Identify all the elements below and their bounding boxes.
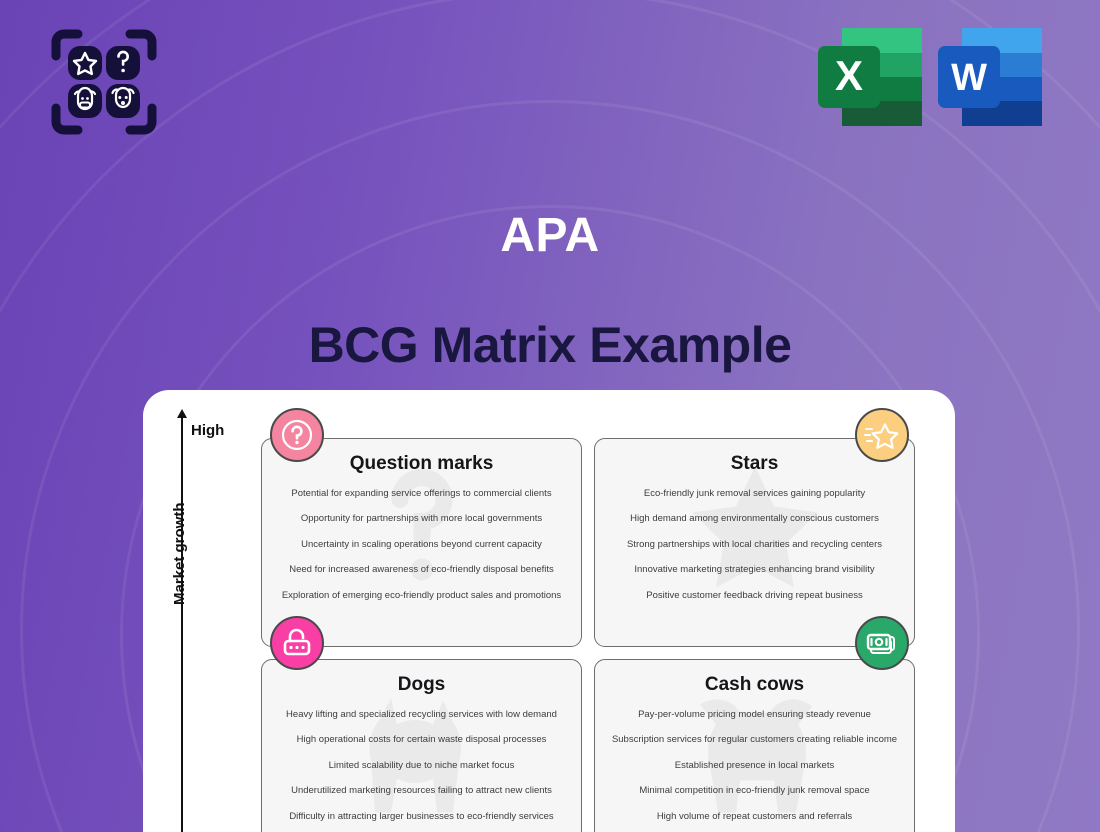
word-icon[interactable]: W <box>938 28 1042 131</box>
quadrant-question-marks[interactable]: Question marks Potential for expanding s… <box>261 438 582 647</box>
quadrant-item-list: Heavy lifting and specialized recycling … <box>272 709 571 822</box>
axis-high-label: High <box>191 422 224 439</box>
quadrant-item-list: Eco-friendly junk removal services gaini… <box>605 488 904 601</box>
quadrant-title: Question marks <box>272 453 571 475</box>
list-item: Subscription services for regular custom… <box>605 734 904 745</box>
axis-vertical-label: Market growth <box>171 502 188 605</box>
excel-icon[interactable]: X <box>818 28 922 131</box>
list-item: High operational costs for certain waste… <box>272 734 571 745</box>
list-item: High volume of repeat customers and refe… <box>605 811 904 822</box>
page-title: BCG Matrix Example <box>0 316 1100 374</box>
list-item: Established presence in local markets <box>605 760 904 771</box>
list-item: Uncertainty in scaling operations beyond… <box>272 539 571 550</box>
list-item: Opportunity for partnerships with more l… <box>272 513 571 524</box>
bcg-quadrant-grid: Question marks Potential for expanding s… <box>261 438 915 832</box>
quadrant-title: Dogs <box>272 674 571 696</box>
list-item: Pay-per-volume pricing model ensuring st… <box>605 709 904 720</box>
matrix-card: High Market growth Question marks Potent… <box>143 390 955 832</box>
list-item: Limited scalability due to niche market … <box>272 760 571 771</box>
list-item: Difficulty in attracting larger business… <box>272 811 571 822</box>
quadrant-item-list: Pay-per-volume pricing model ensuring st… <box>605 709 904 822</box>
svg-text:X: X <box>835 52 863 99</box>
list-item: Need for increased awareness of eco-frie… <box>272 564 571 575</box>
list-item: Strong partnerships with local charities… <box>605 539 904 550</box>
list-item: Minimal competition in eco-friendly junk… <box>605 785 904 796</box>
list-item: High demand among environmentally consci… <box>605 513 904 524</box>
slide-canvas: X W APA BCG Matrix Example High Market g… <box>0 0 1100 832</box>
svg-text:W: W <box>951 57 987 99</box>
star-icon[interactable] <box>855 408 909 462</box>
list-item: Underutilized marketing resources failin… <box>272 785 571 796</box>
list-item: Potential for expanding service offering… <box>272 488 571 499</box>
question-mark-circle-icon[interactable] <box>270 408 324 462</box>
quadrant-stars[interactable]: Stars Eco-friendly junk removal services… <box>594 438 915 647</box>
list-item: Exploration of emerging eco-friendly pro… <box>272 590 571 601</box>
list-item: Innovative marketing strategies enhancin… <box>605 564 904 575</box>
eyebrow-title: APA <box>0 208 1100 263</box>
quadrant-cash-cows[interactable]: Cash cows Pay-per-volume pricing model e… <box>594 659 915 832</box>
quadrant-item-list: Potential for expanding service offering… <box>272 488 571 601</box>
quadrant-title: Cash cows <box>605 674 904 696</box>
quadrant-title: Stars <box>605 453 904 475</box>
open-padlock-icon[interactable] <box>270 616 324 670</box>
market-growth-axis <box>181 416 183 832</box>
list-item: Eco-friendly junk removal services gaini… <box>605 488 904 499</box>
banknotes-icon[interactable] <box>855 616 909 670</box>
list-item: Positive customer feedback driving repea… <box>605 590 904 601</box>
bcg-quadrant-logo-icon[interactable] <box>48 26 160 138</box>
list-item: Heavy lifting and specialized recycling … <box>272 709 571 720</box>
quadrant-dogs[interactable]: Dogs Heavy lifting and specialized recyc… <box>261 659 582 832</box>
